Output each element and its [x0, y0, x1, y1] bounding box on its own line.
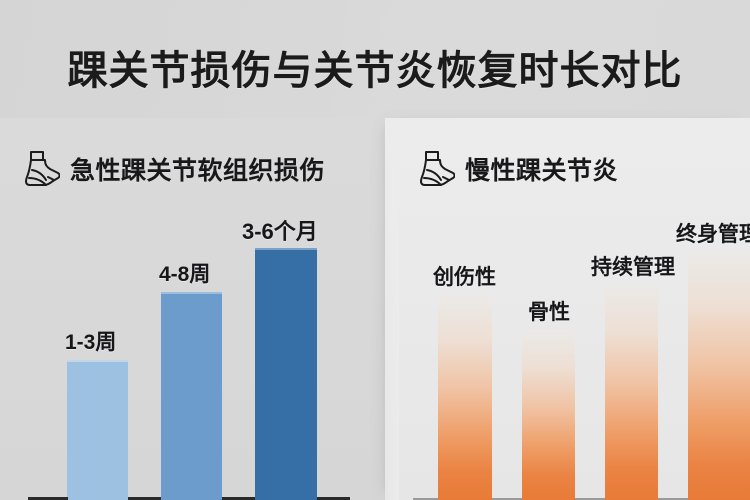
bar-left-2-label: 4-8周 [159, 258, 210, 288]
bar-right-1[interactable] [438, 295, 492, 500]
bar-left-1[interactable] [67, 360, 128, 500]
panel-left-header: 急性踝关节软组织损伤 [20, 148, 325, 190]
panel-right-header: 慢性踝关节炎 [415, 148, 618, 190]
bar-cap [255, 248, 317, 250]
bar-left-1-label: 1-3周 [65, 326, 116, 356]
bar-left-3[interactable] [255, 248, 317, 500]
bar-cap [161, 292, 222, 294]
panel-right-title: 慢性踝关节炎 [465, 151, 618, 187]
infographic-root: 踝关节损伤与关节炎恢复时长对比 急性踝关节软组织损伤 1-3周 4-8周 3-6… [0, 0, 750, 500]
bar-left-2[interactable] [161, 292, 222, 500]
bandaged-foot-icon [20, 148, 60, 190]
bar-cap [67, 360, 128, 362]
bandaged-foot-icon [415, 148, 455, 190]
bar-right-1-label: 创伤性 [433, 261, 496, 291]
bar-right-2-label: 骨性 [528, 296, 570, 326]
panel-left-title: 急性踝关节软组织损伤 [70, 151, 325, 187]
bar-left-3-label: 3-6个月 [242, 214, 318, 246]
panel-acute-injury: 急性踝关节软组织损伤 1-3周 4-8周 3-6个月 [0, 118, 385, 500]
bar-right-3-label: 持续管理 [591, 251, 675, 281]
bar-right-3[interactable] [605, 285, 658, 500]
bar-right-2[interactable] [522, 330, 575, 500]
page-title: 踝关节损伤与关节炎恢复时长对比 [0, 38, 750, 96]
panel-chronic-arthritis: 慢性踝关节炎 创伤性 骨性 持续管理 终身管理 [385, 118, 750, 500]
bar-right-4[interactable] [688, 252, 750, 500]
bar-right-4-label: 终身管理 [676, 218, 750, 248]
